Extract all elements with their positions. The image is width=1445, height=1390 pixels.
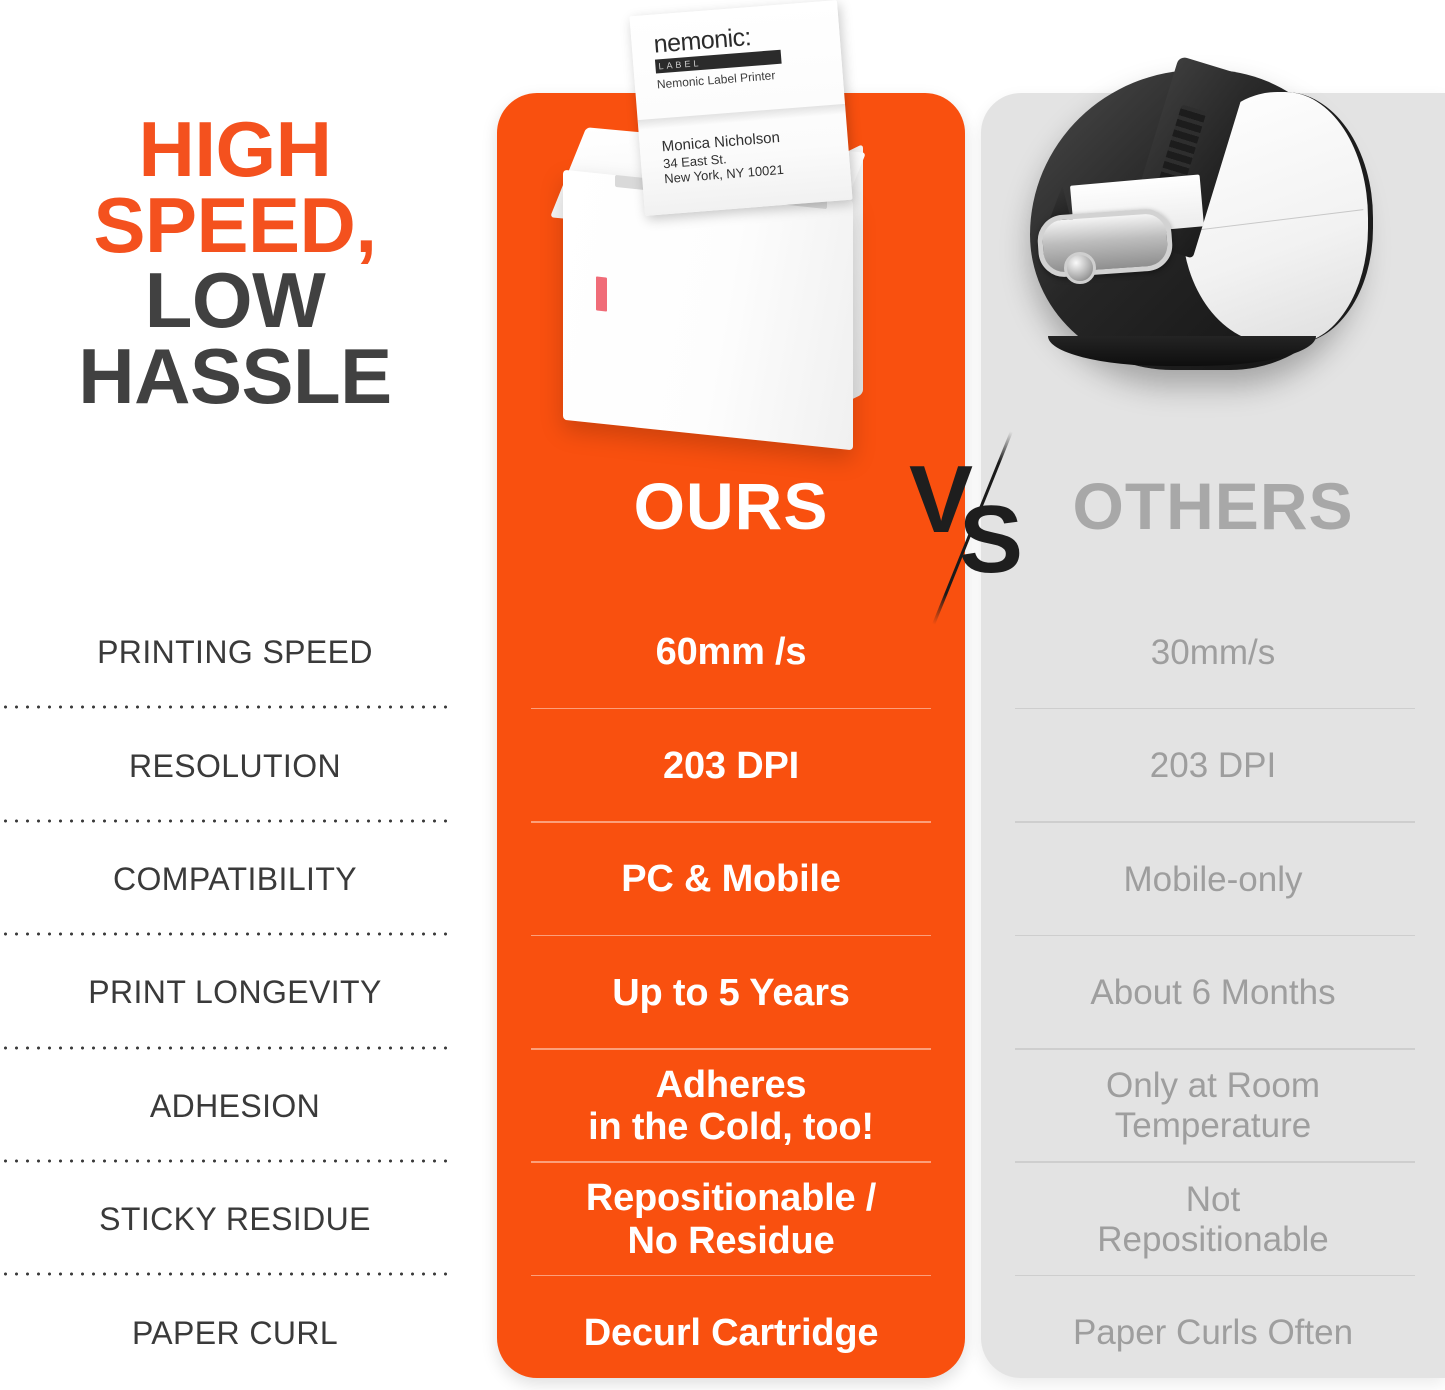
- headline-line-2: SPEED,: [0, 188, 470, 264]
- ours-value-row: Adheresin the Cold, too!: [497, 1050, 965, 1163]
- feature-label-list: PRINTING SPEEDRESOLUTIONCOMPATIBILITYPRI…: [0, 596, 470, 1390]
- others-value-row: Mobile-only: [981, 823, 1445, 936]
- ours-value-row: Up to 5 Years: [497, 936, 965, 1049]
- label-address: Monica Nicholson 34 East St. New York, N…: [661, 129, 784, 187]
- others-value: 30mm/s: [1133, 633, 1293, 673]
- others-value: Paper Curls Often: [1055, 1313, 1371, 1353]
- competitor-printer-chrome-slot: [1036, 207, 1174, 278]
- feature-row: RESOLUTION: [0, 709, 470, 822]
- others-value-row: 203 DPI: [981, 709, 1445, 822]
- others-product-image: [1000, 40, 1400, 440]
- feature-label: STICKY RESIDUE: [99, 1201, 371, 1238]
- ours-value-row: Decurl Cartridge: [497, 1276, 965, 1389]
- feature-label: PRINT LONGEVITY: [88, 974, 381, 1011]
- feature-label: PRINTING SPEED: [97, 634, 373, 671]
- ours-value: PC & Mobile: [603, 858, 858, 901]
- ours-value-row: 60mm /s: [497, 596, 965, 709]
- printer-brand-badge: [596, 276, 607, 311]
- others-value: 203 DPI: [1132, 746, 1294, 786]
- others-value-row: NotRepositionable: [981, 1163, 1445, 1276]
- ours-value: 60mm /s: [638, 631, 825, 674]
- feature-row: PRINT LONGEVITY: [0, 936, 470, 1049]
- ours-value-row: Repositionable /No Residue: [497, 1163, 965, 1276]
- feature-row: STICKY RESIDUE: [0, 1163, 470, 1276]
- others-value-row: Only at RoomTemperature: [981, 1050, 1445, 1163]
- headline-line-4: HASSLE: [0, 339, 470, 415]
- feature-label: RESOLUTION: [129, 748, 341, 785]
- others-value-row: 30mm/s: [981, 596, 1445, 709]
- headline-line-3: LOW: [0, 263, 470, 339]
- others-value-row: About 6 Months: [981, 936, 1445, 1049]
- ours-value: 203 DPI: [645, 745, 817, 788]
- ours-value-list: 60mm /s203 DPIPC & MobileUp to 5 YearsAd…: [497, 596, 965, 1390]
- feature-label: PAPER CURL: [132, 1315, 338, 1352]
- others-value: NotRepositionable: [1079, 1180, 1347, 1260]
- others-column-title: OTHERS: [981, 468, 1445, 544]
- feature-row: PAPER CURL: [0, 1276, 470, 1389]
- others-value: Only at RoomTemperature: [1088, 1066, 1338, 1146]
- others-value-row: Paper Curls Often: [981, 1276, 1445, 1389]
- printed-label: nemonic: LABEL Nemonic Label Printer Mon…: [629, 0, 852, 216]
- competitor-printer-knob: [1064, 252, 1096, 284]
- ours-product-image: nemonic: LABEL Nemonic Label Printer Mon…: [497, 0, 965, 460]
- ours-value: Up to 5 Years: [594, 972, 867, 1015]
- ours-value-row: PC & Mobile: [497, 823, 965, 936]
- comparison-infographic: HIGH SPEED, LOW HASSLE PRINTING SPEEDRES…: [0, 0, 1445, 1390]
- page-title: HIGH SPEED, LOW HASSLE: [0, 112, 470, 415]
- ours-value-row: 203 DPI: [497, 709, 965, 822]
- feature-label: COMPATIBILITY: [113, 861, 357, 898]
- label-brand: nemonic:: [653, 19, 824, 57]
- ours-value: Adheresin the Cold, too!: [570, 1064, 892, 1149]
- others-value-list: 30mm/s203 DPIMobile-onlyAbout 6 MonthsOn…: [981, 596, 1445, 1390]
- feature-row: ADHESION: [0, 1050, 470, 1163]
- ours-value: Decurl Cartridge: [566, 1312, 897, 1355]
- feature-row: COMPATIBILITY: [0, 823, 470, 936]
- others-value: About 6 Months: [1072, 973, 1353, 1013]
- others-value: Mobile-only: [1106, 860, 1321, 900]
- feature-row: PRINTING SPEED: [0, 596, 470, 709]
- label-crease: [638, 104, 846, 130]
- ours-value: Repositionable /No Residue: [568, 1177, 894, 1262]
- headline-line-1: HIGH: [0, 112, 470, 188]
- feature-label: ADHESION: [150, 1088, 320, 1125]
- feature-column: HIGH SPEED, LOW HASSLE PRINTING SPEEDRES…: [0, 0, 470, 1390]
